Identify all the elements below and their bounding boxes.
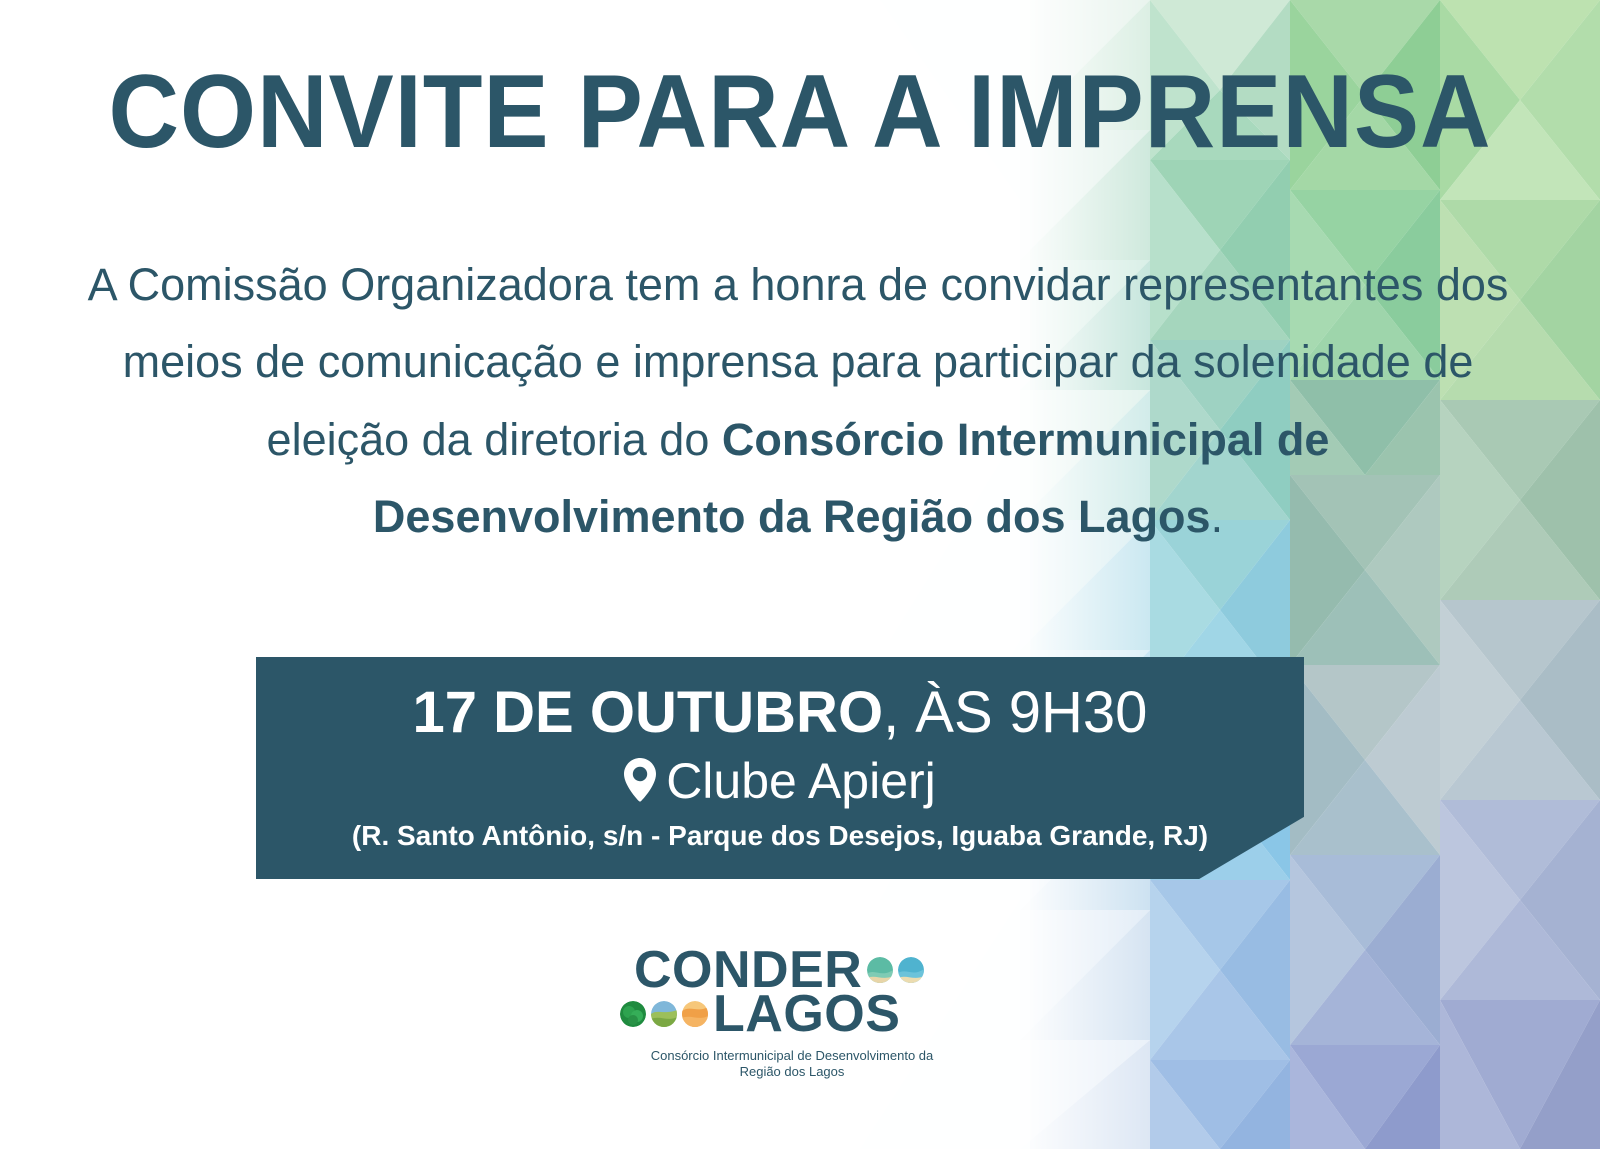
event-date-line: 17 DE OUTUBRO, ÀS 9H30: [256, 681, 1304, 746]
event-details-banner: 17 DE OUTUBRO, ÀS 9H30 Clube Apierj (R. …: [256, 657, 1304, 879]
event-venue-name: Clube Apierj: [666, 753, 936, 809]
event-venue-line: Clube Apierj: [256, 753, 1304, 815]
event-address: (R. Santo Antônio, s/n - Parque dos Dese…: [256, 820, 1304, 852]
logo-dot-orange-sun: [682, 1001, 708, 1027]
logo-word-lagos: LAGOS: [713, 988, 900, 1040]
logo-dot-blue-lagoon: [898, 957, 924, 983]
event-date-strong: 17 DE OUTUBRO: [413, 680, 884, 745]
logo-subtitle: Consórcio Intermunicipal de Desenvolvime…: [612, 1048, 972, 1080]
logo-subtitle-line-1: Consórcio Intermunicipal de Desenvolvime…: [612, 1048, 972, 1064]
logo-dot-teal-lagoon: [867, 957, 893, 983]
press-invitation-poster: CONVITE PARA A IMPRENSA A Comissão Organ…: [0, 0, 1600, 1149]
invitation-body: A Comissão Organizadora tem a honra de c…: [78, 246, 1518, 556]
logo-dot-landscape: [651, 1001, 677, 1027]
logo-subtitle-line-2: Região dos Lagos: [612, 1064, 972, 1080]
page-title: CONVITE PARA A IMPRENSA: [48, 58, 1552, 167]
location-pin-icon: [624, 757, 656, 815]
logo-dot-green-forest: [620, 1001, 646, 1027]
invitation-body-trailing: .: [1211, 491, 1224, 542]
event-time-light: , ÀS 9H30: [883, 680, 1147, 745]
conderlagos-logo: CONDER: [620, 944, 980, 1114]
